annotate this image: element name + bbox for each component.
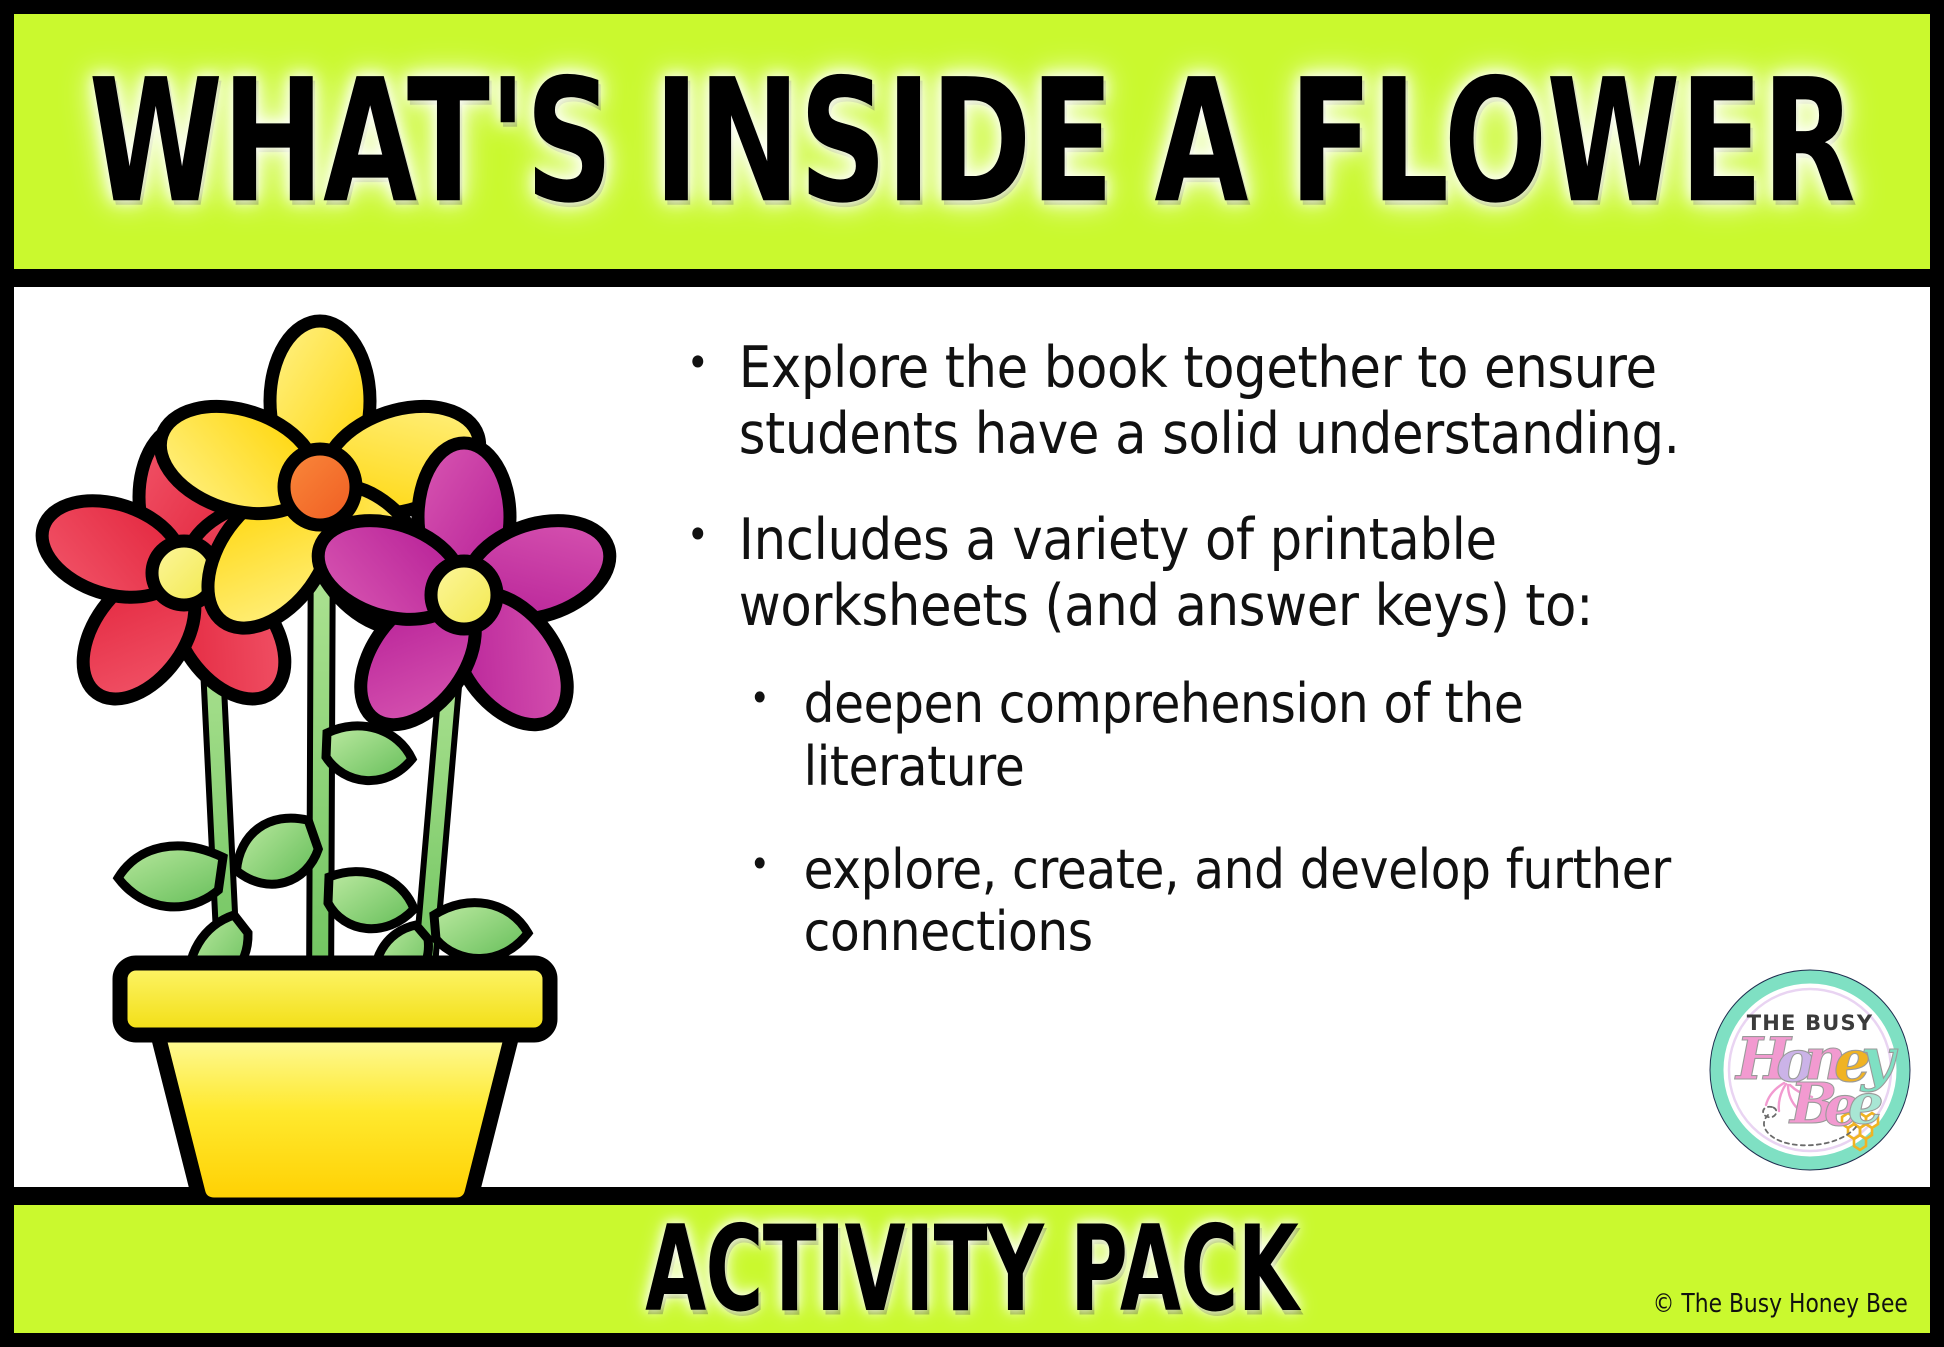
flower-pot-illustration	[24, 305, 644, 1205]
copyright-notice: © The Busy Honey Bee	[1653, 1289, 1908, 1319]
sub-bullet-text: explore, create, and develop further con…	[804, 838, 1671, 964]
main-content: Explore the book together to ensure stud…	[14, 287, 1930, 1187]
bullet-list-level-1: Explore the book together to ensure stud…	[674, 335, 1860, 964]
svg-text:e: e	[1848, 1071, 1884, 1137]
list-item: explore, create, and develop further con…	[739, 839, 1742, 964]
bullet-list-container: Explore the book together to ensure stud…	[654, 287, 1930, 964]
sub-bullet-text: deepen comprehension of the literature	[804, 672, 1524, 798]
flower-pot	[120, 963, 550, 1205]
title-banner: WHAT'S INSIDE A FLOWER	[14, 14, 1930, 269]
bullet-list-level-2: deepen comprehension of the literature e…	[739, 673, 1742, 964]
bottom-banner: ACTIVITY PACK © The Busy Honey Bee	[14, 1205, 1930, 1333]
bullet-text: Explore the book together to ensure stud…	[739, 335, 1680, 467]
bullet-text: Includes a variety of printable workshee…	[739, 507, 1593, 639]
list-item: Explore the book together to ensure stud…	[674, 335, 1741, 467]
activity-pack-card: WHAT'S INSIDE A FLOWER	[0, 0, 1944, 1347]
page-title: WHAT'S INSIDE A FLOWER	[89, 56, 1855, 226]
illustration-column	[14, 287, 654, 1187]
list-item: Includes a variety of printable workshee…	[674, 507, 1741, 964]
list-item: deepen comprehension of the literature	[739, 673, 1742, 798]
logo-line-3: B e e	[1788, 1071, 1884, 1139]
the-busy-honey-bee-logo: THE BUSY H o n e y B e e	[1706, 967, 1914, 1173]
activity-pack-label: ACTIVITY PACK	[646, 1210, 1299, 1329]
divider-top	[14, 269, 1930, 287]
